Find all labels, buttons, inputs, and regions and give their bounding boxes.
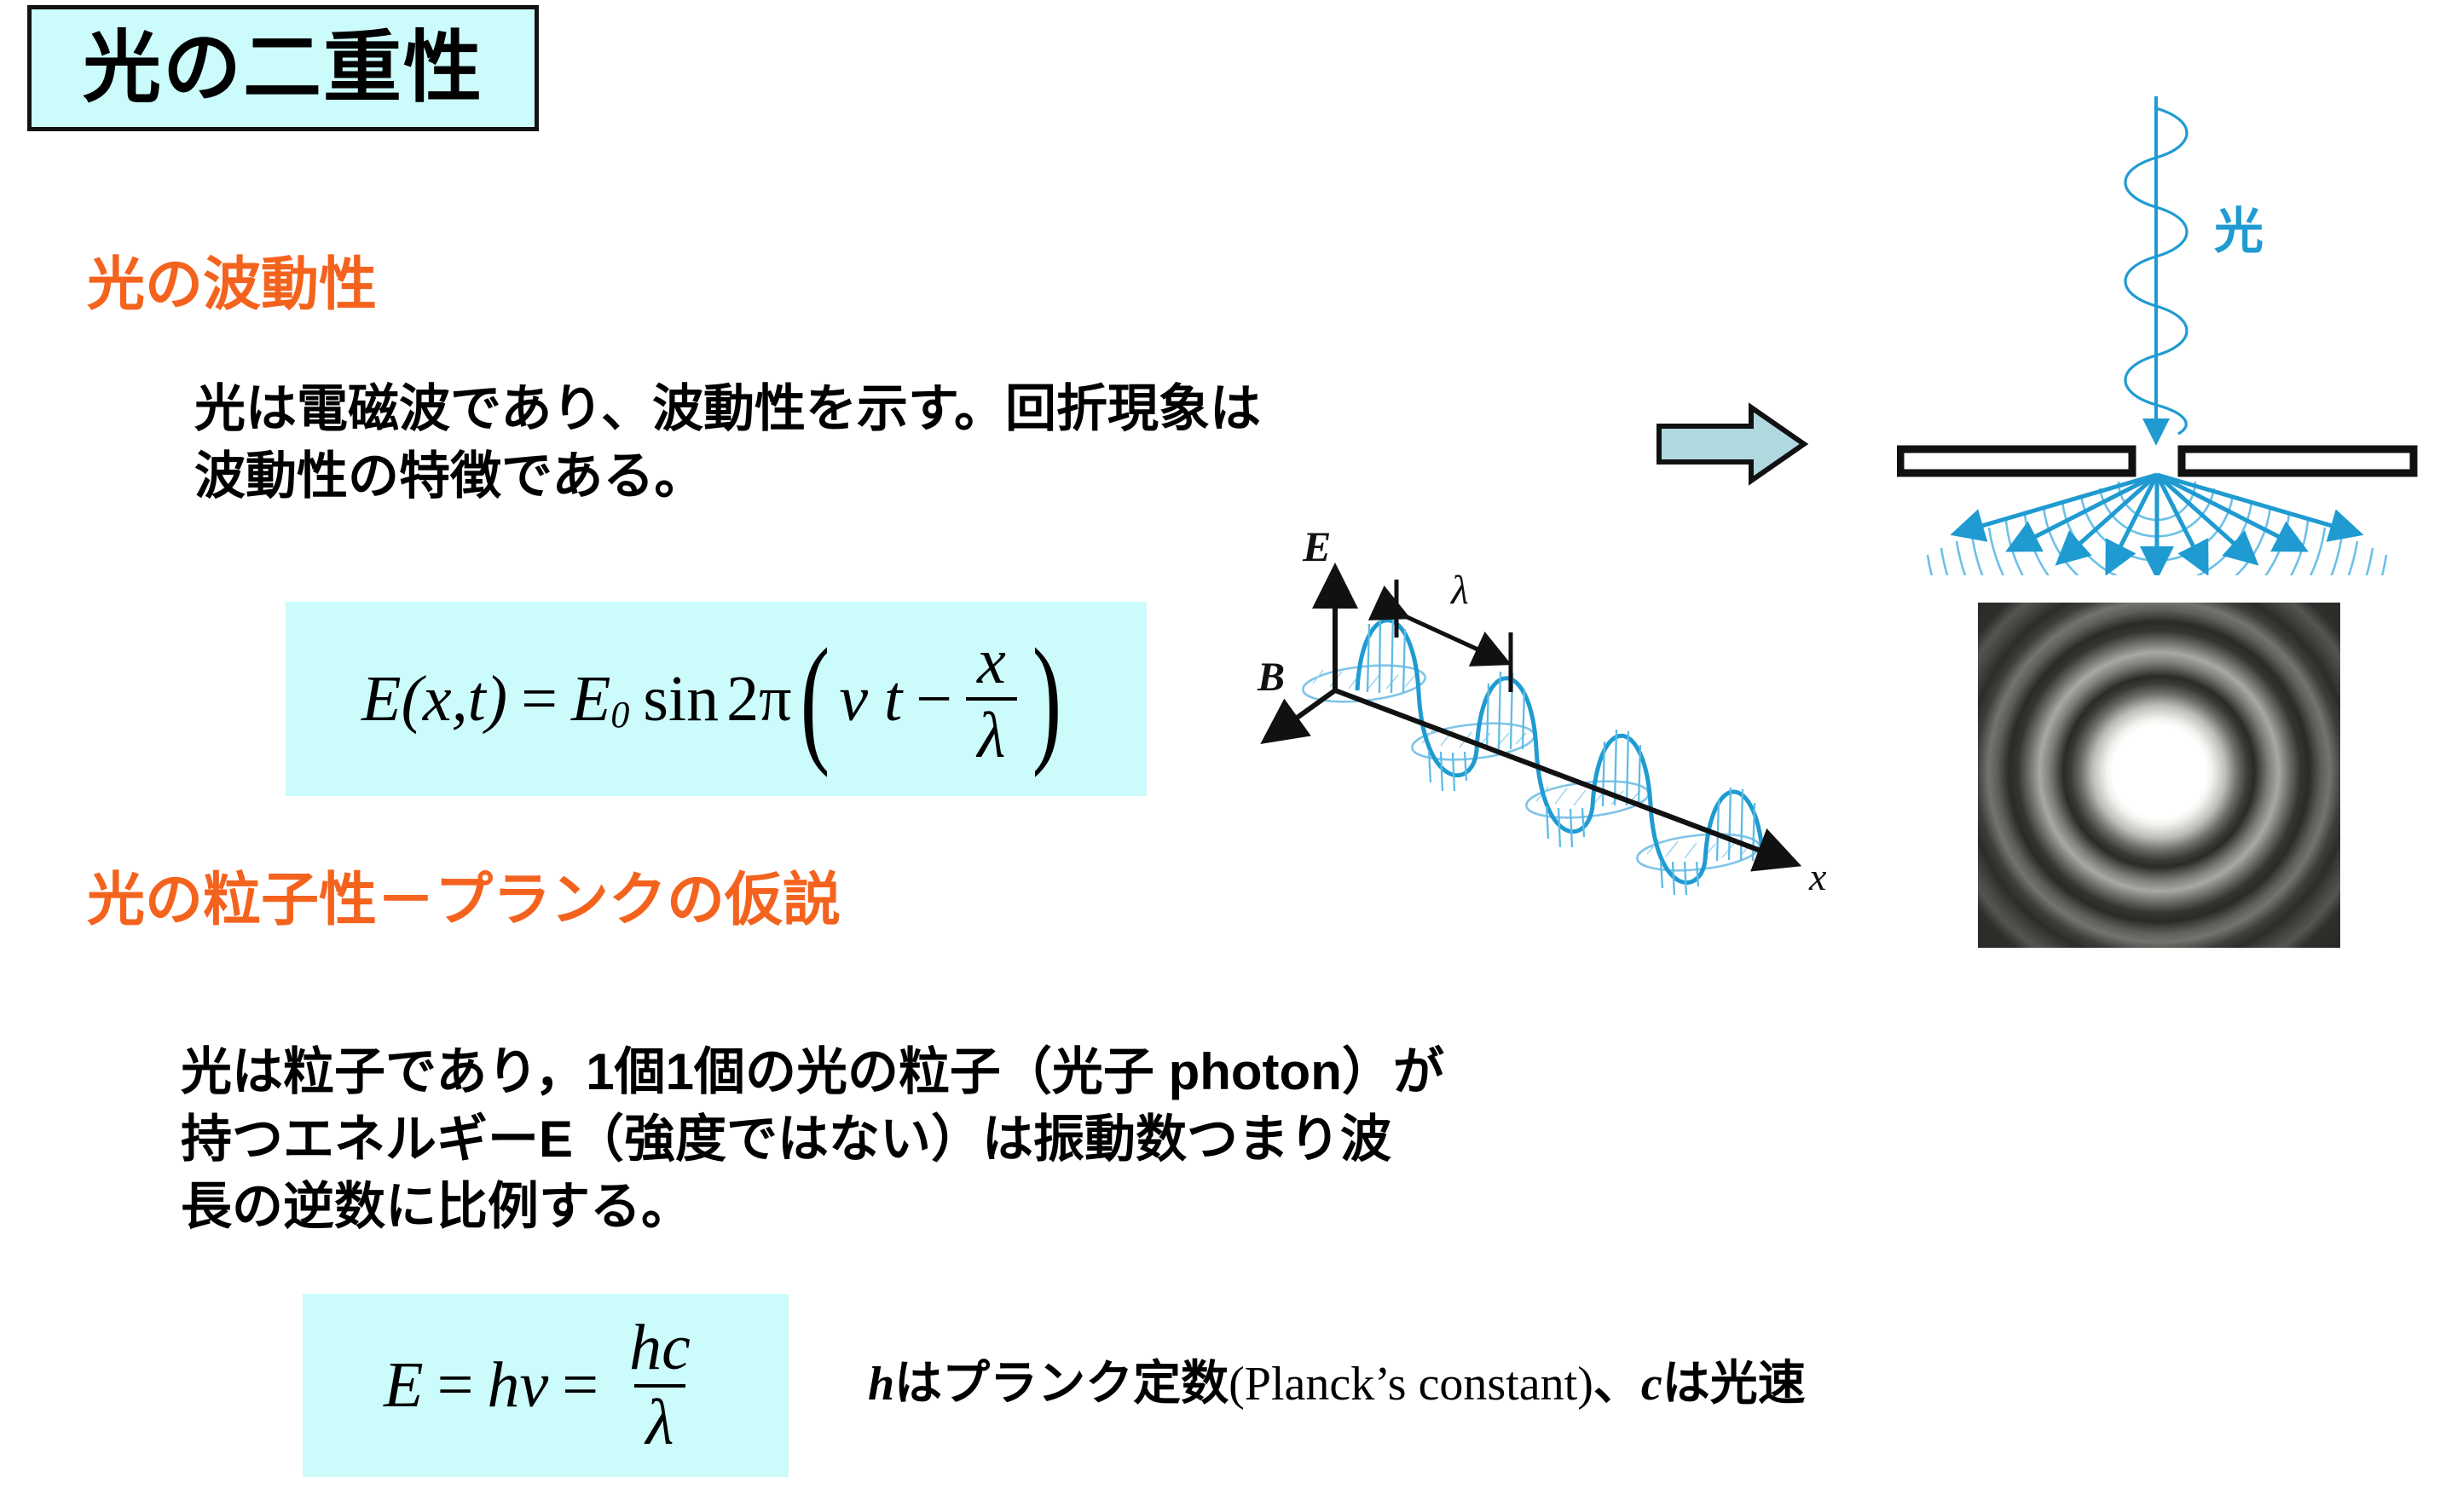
formula-planck-equals-2: = xyxy=(562,1348,598,1423)
emwave-label-lambda: λ xyxy=(1449,568,1469,613)
formula-planck-h-nu: hν xyxy=(487,1348,548,1423)
note-symbol-h: h xyxy=(868,1358,894,1411)
formula-wave-fraction: x λ xyxy=(965,628,1018,770)
slit-barrier-right xyxy=(2182,449,2414,473)
note-symbol-c: c xyxy=(1641,1358,1662,1411)
formula-planck-fraction: hc λ xyxy=(617,1314,702,1456)
formula-wave-amplitude: E xyxy=(571,662,610,736)
slide-title-box: 光の二重性 xyxy=(27,5,539,131)
formula-wave-term-nu-t: ν t xyxy=(839,662,902,736)
section-heading-particle-nature: 光の粒子性－プランクの仮説 xyxy=(87,871,841,929)
emwave-label-x: x xyxy=(1808,855,1827,895)
formula-wave-paren-open: ( xyxy=(801,655,830,743)
single-slit-diffraction-diagram: 光 xyxy=(1897,81,2463,575)
formula-planck-lhs: E xyxy=(384,1348,423,1423)
note-separator: 、 xyxy=(1593,1356,1641,1410)
formula-wave-lhs: E(x,t) xyxy=(361,662,507,736)
right-block-arrow-icon xyxy=(1656,397,1809,491)
paragraph-particle-nature: 光は粒子であり，1個1個の光の粒子（光子 photon）が 持つエネルギーE（強… xyxy=(181,1038,1886,1241)
formula-wave-equation: E(x,t) = E0 sin 2π ( ν t − x λ ) xyxy=(286,602,1147,796)
formula-planck-equation: E = hν = hc λ xyxy=(303,1294,789,1477)
slit-barrier-left xyxy=(1900,449,2132,473)
formula-planck-expression: E = hν = hc λ xyxy=(384,1314,708,1456)
airy-diffraction-pattern-photo xyxy=(1978,603,2340,948)
formula-wave-two-pi: 2π xyxy=(726,662,791,736)
formula-planck-equals-1: = xyxy=(437,1348,474,1423)
page-title: 光の二重性 xyxy=(83,29,483,107)
formula-wave-fraction-numerator: x xyxy=(965,628,1018,697)
note-english-term: (Planck’s constant) xyxy=(1229,1358,1593,1411)
note-text-before: はプランク定数 xyxy=(894,1356,1229,1410)
formula-wave-amplitude-subscript: 0 xyxy=(610,693,629,736)
formula-wave-fraction-denominator: λ xyxy=(966,697,1018,770)
formula-wave-equals: = xyxy=(521,662,558,736)
emwave-label-B: B xyxy=(1257,655,1285,700)
electromagnetic-wave-diagram: E B x λ xyxy=(1253,494,1876,895)
emwave-label-E: E xyxy=(1302,522,1331,570)
formula-planck-fraction-numerator: hc xyxy=(617,1314,702,1383)
formula-wave-minus: − xyxy=(916,662,952,736)
formula-wave-paren-close: ) xyxy=(1032,655,1062,743)
note-text-after: は光速 xyxy=(1662,1356,1806,1410)
formula-wave-expression: E(x,t) = E0 sin 2π ( ν t − x λ ) xyxy=(361,628,1071,770)
formula-planck-fraction-denominator: λ xyxy=(634,1384,686,1457)
formula-wave-sin: sin xyxy=(643,662,719,736)
section-heading-wave-nature: 光の波動性 xyxy=(87,256,377,314)
diffraction-label-light: 光 xyxy=(2214,204,2264,259)
paragraph-wave-nature: 光は電磁波であり、波動性を示す。回折現象は 波動性の特徴である。 xyxy=(194,375,1644,510)
formula-planck-note: hはプランク定数(Planck’s constant)、cは光速 xyxy=(868,1345,1806,1414)
